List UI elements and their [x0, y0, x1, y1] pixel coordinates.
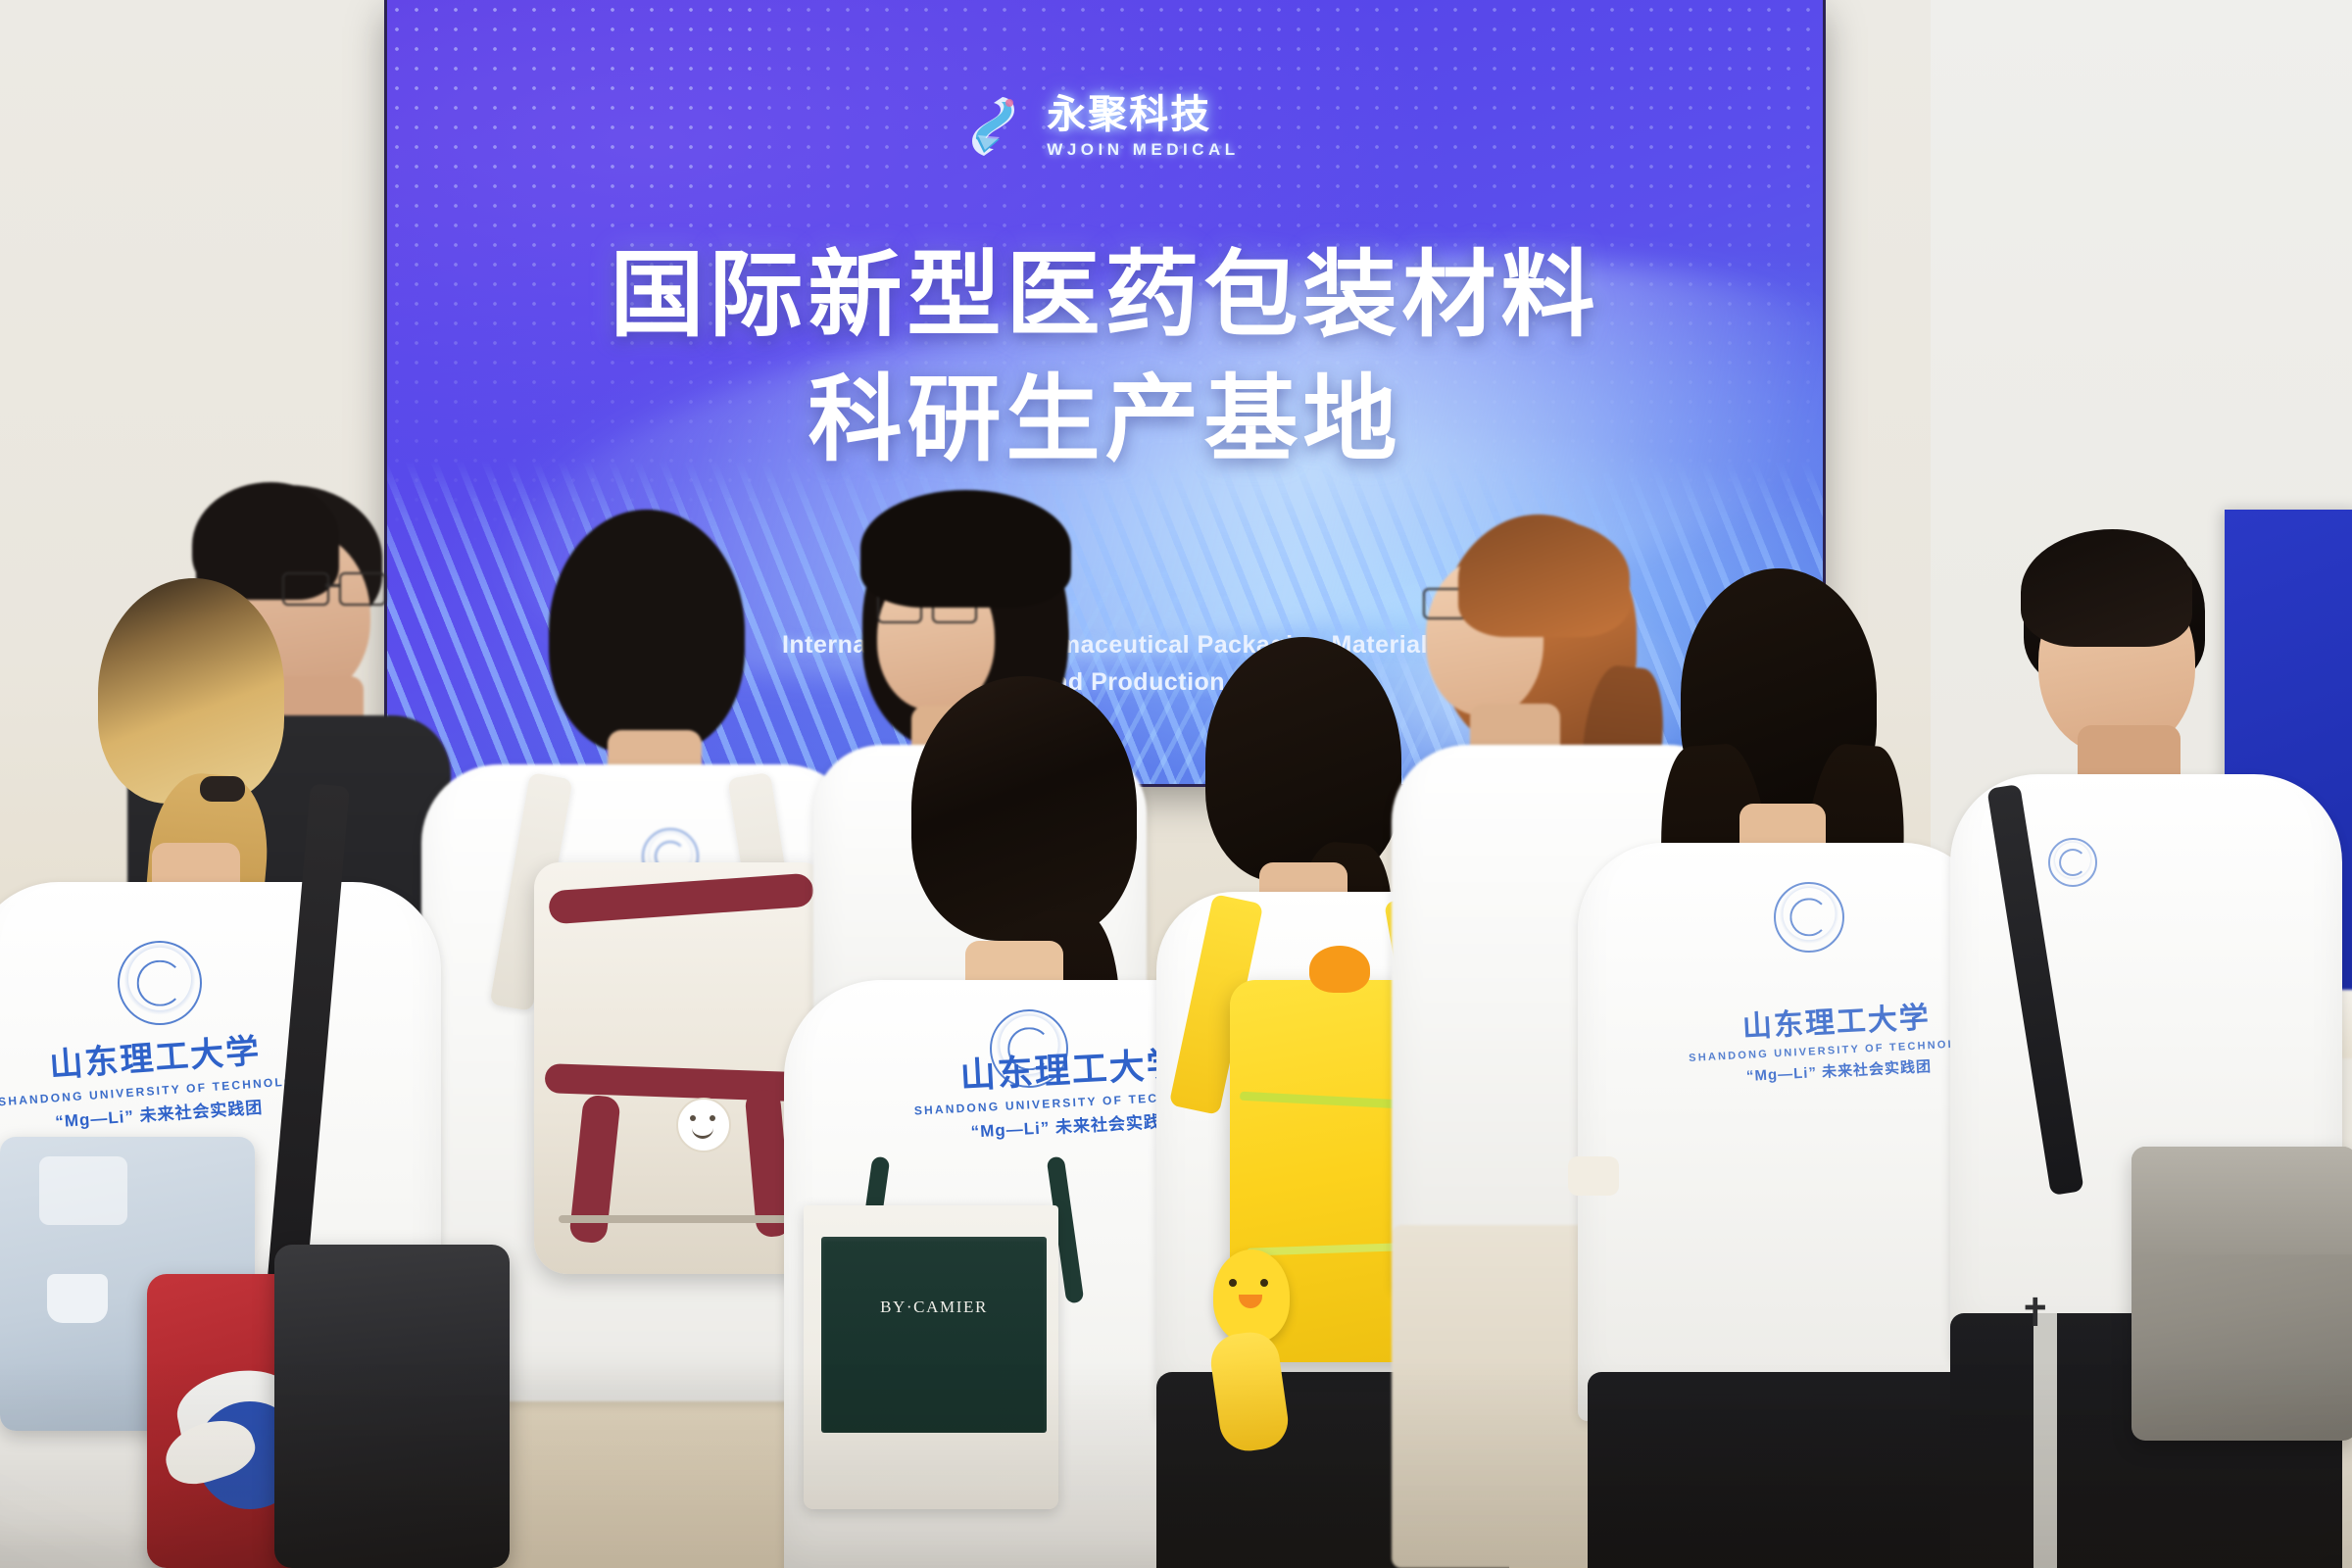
- screenshot-root: 永聚科技 WJOIN MEDICAL 国际新型医药包装材料 科研生产基地 Int…: [0, 0, 2352, 1568]
- wristband: [1568, 1156, 1619, 1196]
- university-crest-icon: [990, 1009, 1068, 1088]
- smiley-face-pin-icon: [676, 1098, 731, 1152]
- hair-tie: [200, 776, 245, 802]
- duck-charm-icon: [1213, 1249, 1290, 1343]
- university-crest-icon: [2048, 838, 2097, 887]
- orange-bow-icon: [1309, 946, 1370, 993]
- cross-pendant-icon: ✝: [2019, 1294, 2044, 1337]
- audience-group: 山东理工大学 SHANDONG UNIVERSITY OF TECHNOLOGY…: [0, 0, 2352, 1568]
- eyeglasses-icon: [282, 568, 392, 608]
- tote-brand-label: BY·CAMIER: [821, 1298, 1047, 1317]
- university-crest-icon: [1774, 882, 1844, 953]
- floor-shadow: [0, 1362, 2352, 1568]
- university-crest-icon: [118, 941, 202, 1025]
- butterfly-charm-icon: [47, 1274, 108, 1323]
